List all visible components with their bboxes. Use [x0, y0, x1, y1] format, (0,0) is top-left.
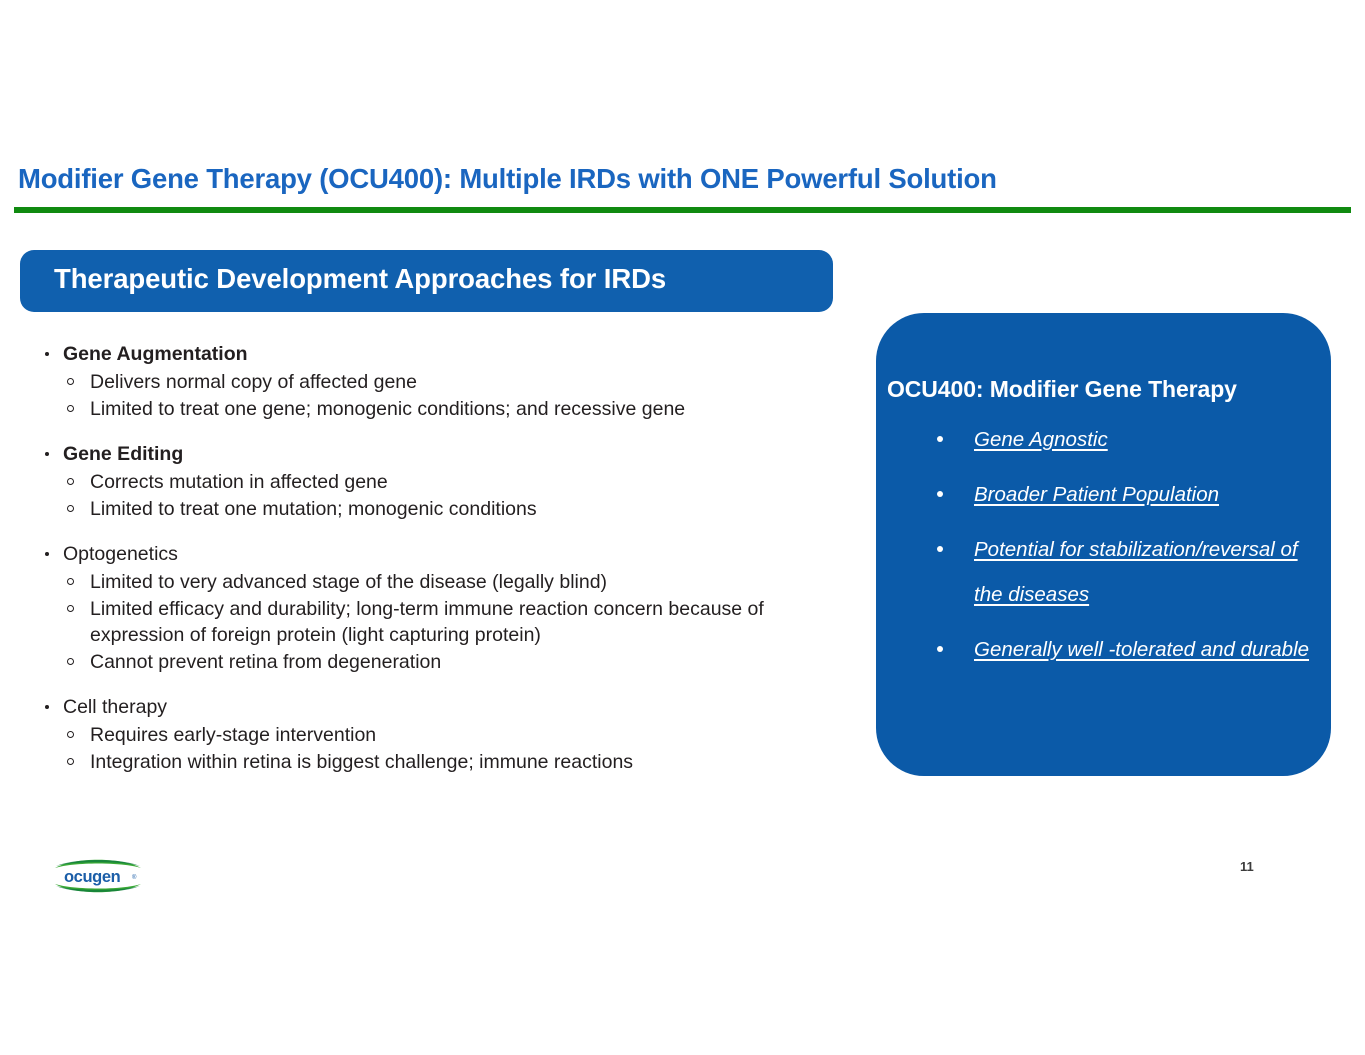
approach-sub-item-label: Integration within retina is biggest cha… — [84, 749, 836, 776]
callout-list-item: Potential for stabilization/reversal of … — [932, 527, 1322, 617]
bullet-disc-icon — [937, 491, 943, 497]
approach-heading-label: Gene Augmentation — [63, 343, 248, 365]
approach-sub-item-label: Delivers normal copy of affected gene — [84, 369, 836, 396]
approach-sub-item-label: Limited efficacy and durability; long-te… — [84, 596, 836, 649]
bullet-hollow-circle-icon — [67, 478, 74, 485]
approach-sub-item-label: Requires early-stage intervention — [84, 722, 836, 749]
approach-sub-item-label: Limited to very advanced stage of the di… — [84, 569, 836, 596]
approach-heading: Gene Augmentation — [36, 340, 836, 369]
approach-heading: Gene Editing — [36, 440, 836, 469]
approach-heading-label: Optogenetics — [63, 543, 178, 565]
bullet-disc-icon — [45, 452, 49, 456]
approach-sub-item-label: Limited to treat one mutation; monogenic… — [84, 496, 836, 523]
approach-sub-item: Integration within retina is biggest cha… — [36, 749, 836, 776]
callout-list-item-label: Gene Agnostic — [974, 428, 1108, 451]
approach-sub-item: Requires early-stage intervention — [36, 722, 836, 749]
title-divider — [14, 207, 1351, 213]
callout-list-item-label: Generally well -tolerated and durable — [974, 638, 1309, 661]
callout-box: OCU400: Modifier Gene Therapy Gene Agnos… — [876, 313, 1331, 776]
bullet-hollow-circle-icon — [67, 658, 74, 665]
approaches-list: Gene Augmentation Delivers normal copy o… — [36, 340, 836, 775]
bullet-disc-icon — [45, 552, 49, 556]
approach-sub-item: Delivers normal copy of affected gene — [36, 369, 836, 396]
list-item: Gene Augmentation Delivers normal copy o… — [36, 340, 836, 422]
bullet-hollow-circle-icon — [67, 758, 74, 765]
approach-heading: Cell therapy — [36, 693, 836, 722]
bullet-hollow-circle-icon — [67, 378, 74, 385]
list-item: Gene Editing Corrects mutation in affect… — [36, 440, 836, 522]
bullet-hollow-circle-icon — [67, 405, 74, 412]
bullet-disc-icon — [937, 546, 943, 552]
approach-sub-item-label: Limited to treat one gene; monogenic con… — [84, 396, 836, 423]
approach-sub-item: Limited to very advanced stage of the di… — [36, 569, 836, 596]
ocugen-logo-icon: ocugen ® — [52, 855, 144, 897]
bullet-disc-icon — [45, 705, 49, 709]
approach-heading-label: Gene Editing — [63, 443, 183, 465]
section-banner-label: Therapeutic Development Approaches for I… — [54, 263, 666, 295]
callout-list-item-label: Broader Patient Population — [974, 483, 1219, 506]
callout-list-item: Broader Patient Population — [932, 472, 1322, 517]
page-number: 11 — [1240, 859, 1254, 874]
approach-sub-item-label: Corrects mutation in affected gene — [84, 469, 836, 496]
bullet-hollow-circle-icon — [67, 731, 74, 738]
approach-heading: Optogenetics — [36, 540, 836, 569]
callout-list: Gene Agnostic Broader Patient Population… — [932, 417, 1322, 682]
bullet-hollow-circle-icon — [67, 505, 74, 512]
page-title: Modifier Gene Therapy (OCU400): Multiple… — [18, 163, 1318, 195]
approach-sub-item: Corrects mutation in affected gene — [36, 469, 836, 496]
approach-heading-label: Cell therapy — [63, 696, 167, 718]
svg-text:®: ® — [132, 874, 137, 881]
approach-sub-item-label: Cannot prevent retina from degeneration — [84, 649, 836, 676]
list-item: Cell therapy Requires early-stage interv… — [36, 693, 836, 775]
approach-sub-item: Limited efficacy and durability; long-te… — [36, 596, 836, 649]
bullet-hollow-circle-icon — [67, 578, 74, 585]
approach-sub-item: Limited to treat one mutation; monogenic… — [36, 496, 836, 523]
callout-heading: OCU400: Modifier Gene Therapy — [887, 376, 1237, 403]
svg-text:ocugen: ocugen — [64, 868, 121, 886]
bullet-disc-icon — [937, 436, 943, 442]
list-item: Optogenetics Limited to very advanced st… — [36, 540, 836, 675]
callout-list-item: Generally well -tolerated and durable — [932, 627, 1322, 672]
callout-list-item: Gene Agnostic — [932, 417, 1322, 462]
callout-list-item-label: Potential for stabilization/reversal of … — [974, 538, 1298, 606]
bullet-disc-icon — [45, 352, 49, 356]
approach-sub-item: Cannot prevent retina from degeneration — [36, 649, 836, 676]
bullet-disc-icon — [937, 646, 943, 652]
section-banner: Therapeutic Development Approaches for I… — [20, 250, 833, 312]
ocugen-logo: ocugen ® — [52, 855, 144, 897]
approach-sub-item: Limited to treat one gene; monogenic con… — [36, 396, 836, 423]
bullet-hollow-circle-icon — [67, 605, 74, 612]
